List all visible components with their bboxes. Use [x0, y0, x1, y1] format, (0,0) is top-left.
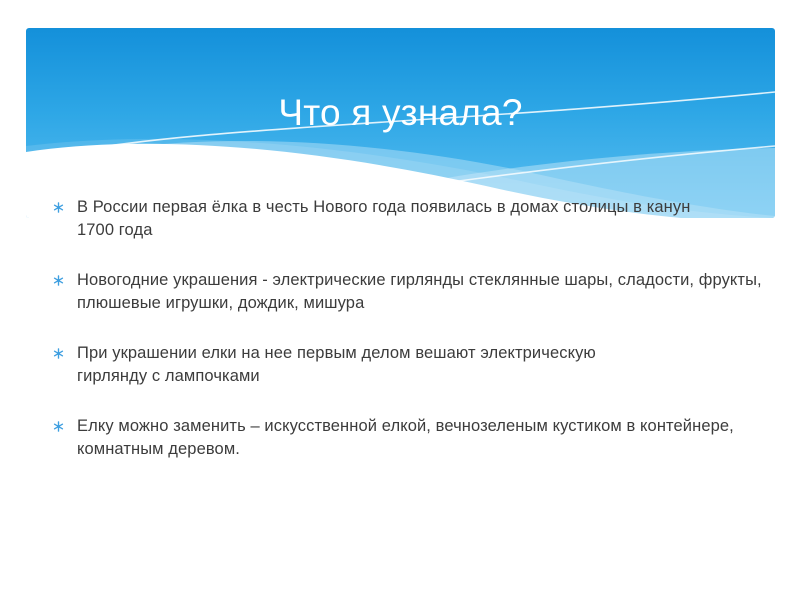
slide-body: В России первая ёлка в честь Нового года…: [52, 196, 762, 461]
bullet-text: В России первая ёлка в честь Нового года…: [77, 196, 697, 243]
bullet-list-item: Елку можно заменить – искусственной елко…: [52, 415, 762, 462]
asterisk-star-icon: [52, 273, 66, 287]
asterisk-star-icon: [52, 346, 66, 360]
asterisk-star-icon: [52, 200, 66, 214]
bullet-text: Елку можно заменить – искусственной елко…: [77, 415, 737, 462]
bullet-list-item: В России первая ёлка в честь Нового года…: [52, 196, 762, 243]
slide-title: Что я узнала?: [26, 92, 775, 135]
bullet-list-item: При украшении елки на нее первым делом в…: [52, 342, 762, 389]
asterisk-star-icon: [52, 419, 66, 433]
presentation-slide: Что я узнала? В России первая ёлка в чес…: [0, 0, 800, 600]
bullet-text: Новогодние украшения - электрические гир…: [77, 269, 762, 316]
bullet-list-item: Новогодние украшения - электрические гир…: [52, 269, 762, 316]
bullet-text: При украшении елки на нее первым делом в…: [77, 342, 657, 389]
